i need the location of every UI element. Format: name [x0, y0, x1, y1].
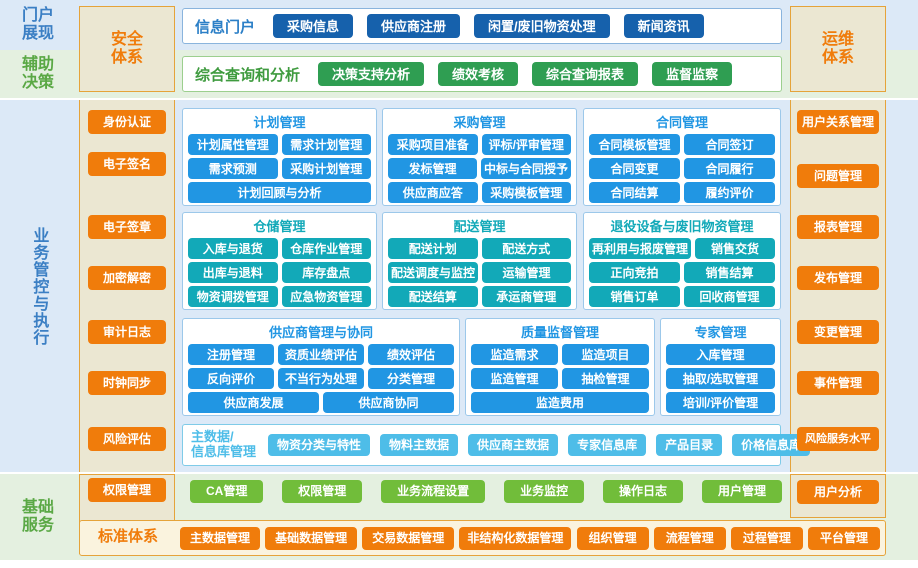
group-supplier-row-1: 反向评价 不当行为处理 分类管理	[188, 368, 454, 389]
group-retired-row-2: 销售订单 回收商管理	[589, 286, 775, 307]
decision-row-title: 综合查询和分析	[195, 64, 300, 85]
group-quality-item-2-0[interactable]: 监造费用	[471, 392, 649, 413]
ops-item-3[interactable]: 发布管理	[797, 266, 879, 290]
group-quality-supervision: 质量监督管理 监造需求 监造项目 监造管理 抽检管理 监造费用	[465, 318, 655, 416]
group-delivery-item-1-0[interactable]: 配送调度与监控	[388, 262, 478, 283]
tier-label-business: 业务管控与执行	[0, 100, 76, 472]
group-expert-row-2: 培训/评价管理	[666, 392, 775, 413]
group-plan-item-1-0[interactable]: 需求预测	[188, 158, 278, 179]
standard-button-2[interactable]: 交易数据管理	[362, 527, 454, 550]
group-supplier-item-2-1[interactable]: 供应商协同	[323, 392, 454, 413]
group-expert-item-2-0[interactable]: 培训/评价管理	[666, 392, 775, 413]
portal-row-title: 信息门户	[195, 16, 255, 37]
group-quality-row-0: 监造需求 监造项目	[471, 344, 649, 365]
group-delivery-item-2-1[interactable]: 承运商管理	[482, 286, 572, 307]
architecture-diagram: 门户 展现 辅助 决策 业务管控与执行 基础 服务 安全 体系 运维 体系 信息…	[0, 0, 918, 568]
group-plan-management: 计划管理 计划属性管理 需求计划管理 需求预测 采购计划管理 计划回顾与分析	[182, 108, 377, 206]
group-supplier-title: 供应商管理与协同	[188, 322, 454, 341]
security-system-label: 安全 体系	[111, 31, 143, 68]
standard-button-0[interactable]: 主数据管理	[180, 527, 260, 550]
tier-decision-text: 辅助 决策	[22, 56, 54, 93]
group-procurement-item-2-0[interactable]: 供应商应答	[388, 182, 478, 203]
group-delivery-title: 配送管理	[388, 216, 571, 235]
tier-label-decision: 辅助 决策	[0, 50, 76, 98]
group-procurement-row-0: 采购项目准备 评标/评审管理	[388, 134, 571, 155]
group-supplier-item-2-0[interactable]: 供应商发展	[188, 392, 319, 413]
group-procurement-item-1-1[interactable]: 中标与合同授予	[481, 158, 571, 179]
group-warehouse-item-2-0[interactable]: 物资调拨管理	[188, 286, 278, 307]
decision-button-1[interactable]: 绩效考核	[438, 62, 518, 86]
group-warehouse-item-0-1[interactable]: 仓库作业管理	[282, 238, 372, 259]
group-supplier-management: 供应商管理与协同 注册管理 资质业绩评估 绩效评估 反向评价 不当行为处理 分类…	[182, 318, 460, 416]
standard-button-3[interactable]: 非结构化数据管理	[459, 527, 571, 550]
group-plan-item-1-1[interactable]: 采购计划管理	[282, 158, 372, 179]
security-item-1[interactable]: 电子签名	[88, 152, 166, 176]
standard-button-7[interactable]: 平台管理	[808, 527, 880, 550]
group-retired-item-1-0[interactable]: 正向竞拍	[589, 262, 680, 283]
tier-basic-text: 基础 服务	[22, 499, 54, 536]
group-supplier-item-1-2[interactable]: 分类管理	[368, 368, 454, 389]
standard-button-4[interactable]: 组织管理	[577, 527, 649, 550]
decision-row: 综合查询和分析 决策支持分析 绩效考核 综合查询报表 监督监察	[182, 56, 782, 92]
basic-service-button-1[interactable]: 权限管理	[282, 480, 362, 503]
group-supplier-item-0-1[interactable]: 资质业绩评估	[278, 344, 364, 365]
master-data-button-2[interactable]: 供应商主数据	[468, 434, 558, 456]
group-retired-item-2-0[interactable]: 销售订单	[589, 286, 680, 307]
standard-button-6[interactable]: 过程管理	[731, 527, 803, 550]
master-data-button-3[interactable]: 专家信息库	[568, 434, 646, 456]
ops-system-bar: 运维 体系	[790, 6, 886, 92]
group-expert-item-1-0[interactable]: 抽取/选取管理	[666, 368, 775, 389]
group-procurement-row-1: 发标管理 中标与合同授予	[388, 158, 571, 179]
master-data-label-line2: 信息库管理	[191, 445, 256, 460]
group-warehouse-management: 仓储管理 入库与退货 仓库作业管理 出库与退料 库存盘点 物资调拨管理 应急物资…	[182, 212, 377, 310]
portal-button-2[interactable]: 闲置/废旧物资处理	[474, 14, 610, 38]
portal-row: 信息门户 采购信息 供应商注册 闲置/废旧物资处理 新闻资讯	[182, 8, 782, 44]
group-procurement-title: 采购管理	[388, 112, 571, 131]
standard-button-1[interactable]: 基础数据管理	[265, 527, 357, 550]
master-data-strip: 主数据/ 信息库管理 物资分类与特性 物料主数据 供应商主数据 专家信息库 产品…	[182, 424, 781, 466]
group-plan-item-2-0[interactable]: 计划回顾与分析	[188, 182, 371, 203]
group-quality-title: 质量监督管理	[471, 322, 649, 341]
master-data-label-line1: 主数据/	[191, 430, 256, 445]
group-expert-row-1: 抽取/选取管理	[666, 368, 775, 389]
master-data-button-0[interactable]: 物资分类与特性	[268, 434, 370, 456]
group-expert-item-0-0[interactable]: 入库管理	[666, 344, 775, 365]
ops-item-7[interactable]: 用户分析	[797, 480, 879, 504]
group-procurement-item-2-1[interactable]: 采购模板管理	[482, 182, 572, 203]
group-expert-row-0: 入库管理	[666, 344, 775, 365]
group-procurement-row-2: 供应商应答 采购模板管理	[388, 182, 571, 203]
standard-row: 主数据管理 基础数据管理 交易数据管理 非结构化数据管理 组织管理 流程管理 过…	[180, 526, 880, 550]
group-expert-management: 专家管理 入库管理 抽取/选取管理 培训/评价管理	[660, 318, 781, 416]
group-quality-item-1-1[interactable]: 抽检管理	[562, 368, 649, 389]
group-contract-item-0-0[interactable]: 合同模板管理	[589, 134, 680, 155]
group-retired-item-2-1[interactable]: 回收商管理	[684, 286, 775, 307]
security-item-5[interactable]: 时钟同步	[88, 371, 166, 395]
security-item-8: 标准体系	[82, 522, 174, 548]
group-procurement-management: 采购管理 采购项目准备 评标/评审管理 发标管理 中标与合同授予 供应商应答 采…	[382, 108, 577, 206]
group-delivery-row-1: 配送调度与监控 运输管理	[388, 262, 571, 283]
group-procurement-item-1-0[interactable]: 发标管理	[388, 158, 477, 179]
group-expert-title: 专家管理	[666, 322, 775, 341]
group-supplier-item-1-0[interactable]: 反向评价	[188, 368, 274, 389]
group-retired-title: 退役设备与废旧物资管理	[589, 216, 775, 235]
group-quality-item-0-1[interactable]: 监造项目	[562, 344, 649, 365]
security-system-bar: 安全 体系	[79, 6, 175, 92]
security-item-0[interactable]: 身份认证	[88, 110, 166, 134]
group-contract-title: 合同管理	[589, 112, 775, 131]
group-plan-row-0: 计划属性管理 需求计划管理	[188, 134, 371, 155]
basic-service-button-5[interactable]: 用户管理	[702, 480, 782, 503]
master-data-button-1[interactable]: 物料主数据	[380, 434, 458, 456]
group-retired-row-0: 再利用与报废管理 销售交货	[589, 238, 775, 259]
group-warehouse-row-2: 物资调拨管理 应急物资管理	[188, 286, 371, 307]
group-supplier-row-2: 供应商发展 供应商协同	[188, 392, 454, 413]
group-contract-item-2-0[interactable]: 合同结算	[589, 182, 680, 203]
ops-item-5[interactable]: 事件管理	[797, 371, 879, 395]
group-plan-row-2: 计划回顾与分析	[188, 182, 371, 203]
security-item-3[interactable]: 加密解密	[88, 266, 166, 290]
group-retired-item-0-1[interactable]: 销售交货	[695, 238, 775, 259]
group-delivery-item-0-0[interactable]: 配送计划	[388, 238, 478, 259]
group-supplier-item-0-2[interactable]: 绩效评估	[368, 344, 454, 365]
group-delivery-management: 配送管理 配送计划 配送方式 配送调度与监控 运输管理 配送结算 承运商管理	[382, 212, 577, 310]
group-warehouse-row-1: 出库与退料 库存盘点	[188, 262, 371, 283]
group-retired-item-1-1[interactable]: 销售结算	[684, 262, 775, 283]
portal-button-1[interactable]: 供应商注册	[367, 14, 460, 38]
group-supplier-item-0-0[interactable]: 注册管理	[188, 344, 274, 365]
basic-service-button-2[interactable]: 业务流程设置	[381, 480, 485, 503]
group-retired-item-0-0[interactable]: 再利用与报废管理	[589, 238, 691, 259]
master-data-label: 主数据/ 信息库管理	[191, 430, 256, 460]
group-retired-row-1: 正向竞拍 销售结算	[589, 262, 775, 283]
basic-service-button-3[interactable]: 业务监控	[504, 480, 584, 503]
group-delivery-item-0-1[interactable]: 配送方式	[482, 238, 572, 259]
basic-service-button-0[interactable]: CA管理	[190, 480, 263, 503]
group-warehouse-item-0-0[interactable]: 入库与退货	[188, 238, 278, 259]
group-contract-item-0-1[interactable]: 合同签订	[684, 134, 775, 155]
group-retired-equipment-management: 退役设备与废旧物资管理 再利用与报废管理 销售交货 正向竞拍 销售结算 销售订单…	[583, 212, 781, 310]
standard-button-5[interactable]: 流程管理	[654, 527, 726, 550]
group-plan-title: 计划管理	[188, 112, 371, 131]
ops-item-0[interactable]: 用户关系管理	[797, 110, 879, 134]
group-warehouse-row-0: 入库与退货 仓库作业管理	[188, 238, 371, 259]
ops-item-1[interactable]: 问题管理	[797, 164, 879, 188]
group-supplier-row-0: 注册管理 资质业绩评估 绩效评估	[188, 344, 454, 365]
security-item-6[interactable]: 风险评估	[88, 427, 166, 451]
master-data-button-4[interactable]: 产品目录	[656, 434, 722, 456]
basic-service-button-4[interactable]: 操作日志	[603, 480, 683, 503]
security-item-7[interactable]: 权限管理	[88, 478, 166, 502]
decision-button-2[interactable]: 综合查询报表	[532, 62, 638, 86]
tier-portal-text: 门户 展现	[22, 7, 54, 44]
group-warehouse-item-1-0[interactable]: 出库与退料	[188, 262, 278, 283]
portal-button-3[interactable]: 新闻资讯	[624, 14, 704, 38]
group-quality-row-2: 监造费用	[471, 392, 649, 413]
group-warehouse-item-1-1[interactable]: 库存盘点	[282, 262, 372, 283]
decision-button-3[interactable]: 监督监察	[652, 62, 732, 86]
tier-label-portal: 门户 展现	[0, 0, 76, 50]
group-contract-row-0: 合同模板管理 合同签订	[589, 134, 775, 155]
group-quality-row-1: 监造管理 抽检管理	[471, 368, 649, 389]
group-warehouse-item-2-1[interactable]: 应急物资管理	[282, 286, 372, 307]
group-contract-item-1-0[interactable]: 合同变更	[589, 158, 680, 179]
group-delivery-item-2-0[interactable]: 配送结算	[388, 286, 478, 307]
group-delivery-item-1-1[interactable]: 运输管理	[482, 262, 571, 283]
ops-system-label: 运维 体系	[822, 31, 854, 68]
ops-item-2[interactable]: 报表管理	[797, 215, 879, 239]
group-procurement-item-0-0[interactable]: 采购项目准备	[388, 134, 478, 155]
group-delivery-row-0: 配送计划 配送方式	[388, 238, 571, 259]
tier-business-text: 业务管控与执行	[30, 227, 47, 346]
group-quality-item-1-0[interactable]: 监造管理	[471, 368, 558, 389]
group-plan-item-0-1[interactable]: 需求计划管理	[282, 134, 372, 155]
group-plan-item-0-0[interactable]: 计划属性管理	[188, 134, 278, 155]
group-plan-row-1: 需求预测 采购计划管理	[188, 158, 371, 179]
security-item-4[interactable]: 审计日志	[88, 320, 166, 344]
group-supplier-item-1-1[interactable]: 不当行为处理	[278, 368, 364, 389]
portal-button-0[interactable]: 采购信息	[273, 14, 353, 38]
ops-item-6[interactable]: 风险服务水平	[797, 427, 879, 451]
basic-service-row: CA管理 权限管理 业务流程设置 业务监控 操作日志 用户管理	[190, 478, 782, 504]
ops-item-4[interactable]: 变更管理	[797, 320, 879, 344]
decision-button-0[interactable]: 决策支持分析	[318, 62, 424, 86]
group-contract-row-1: 合同变更 合同履行	[589, 158, 775, 179]
group-contract-management: 合同管理 合同模板管理 合同签订 合同变更 合同履行 合同结算 履约评价	[583, 108, 781, 206]
group-contract-item-2-1[interactable]: 履约评价	[684, 182, 775, 203]
group-contract-row-2: 合同结算 履约评价	[589, 182, 775, 203]
group-warehouse-title: 仓储管理	[188, 216, 371, 235]
group-contract-item-1-1[interactable]: 合同履行	[684, 158, 775, 179]
group-quality-item-0-0[interactable]: 监造需求	[471, 344, 558, 365]
group-procurement-item-0-1[interactable]: 评标/评审管理	[482, 134, 572, 155]
security-item-2[interactable]: 电子签章	[88, 215, 166, 239]
group-delivery-row-2: 配送结算 承运商管理	[388, 286, 571, 307]
tier-label-basic: 基础 服务	[0, 474, 76, 560]
